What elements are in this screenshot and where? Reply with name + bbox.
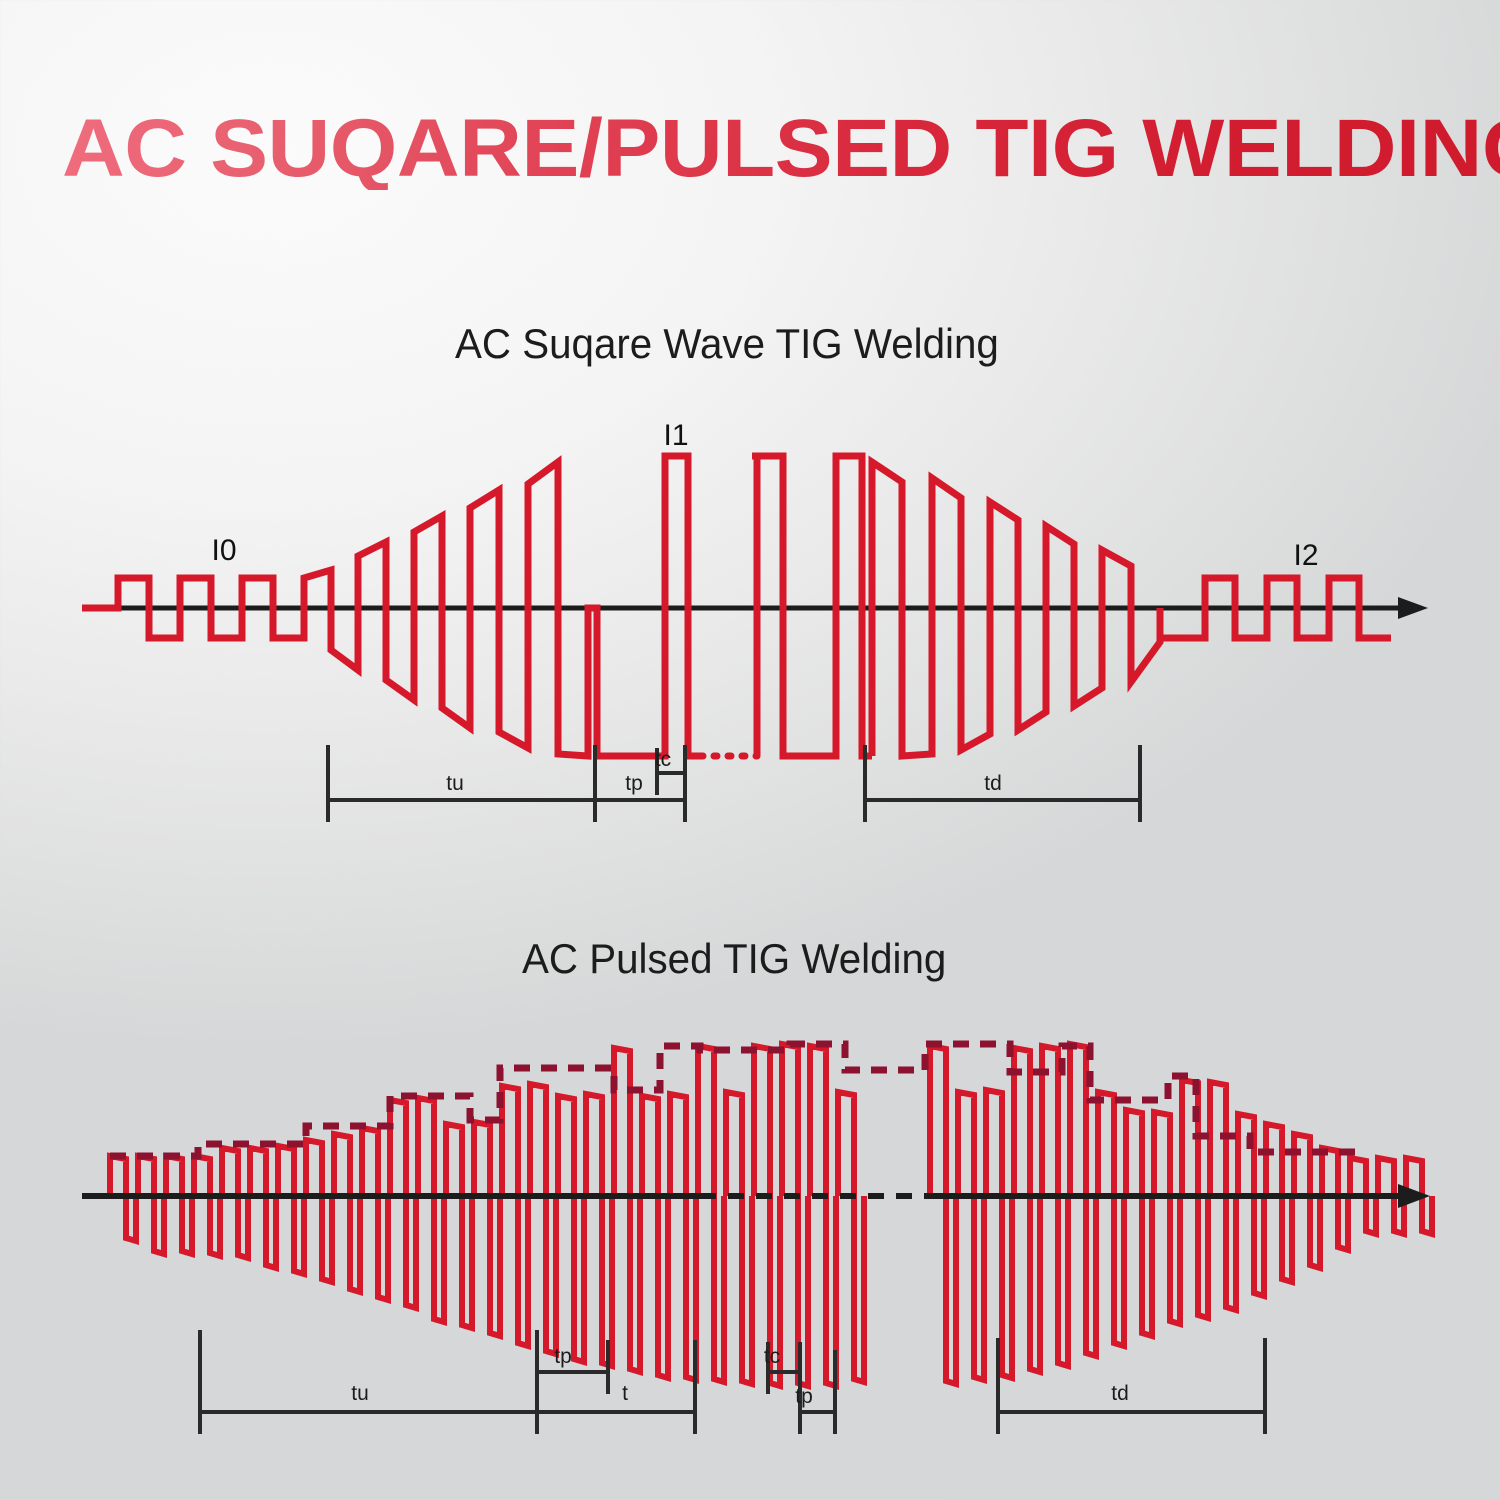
current-label-i0: I0 xyxy=(211,534,236,567)
dimension-label-t: t xyxy=(622,1382,628,1405)
pulsed-wave-chart: tutpttctptd xyxy=(0,1010,1500,1480)
current-label-i1: I1 xyxy=(663,419,688,452)
dimension-label-tc: tc xyxy=(655,748,671,771)
dimension-label-td: td xyxy=(1111,1382,1129,1405)
dimension-label-td: td xyxy=(984,772,1002,795)
pulsed-wave-right xyxy=(930,1044,1432,1384)
dimension-tc: tc xyxy=(655,748,685,795)
section-title-square: AC Suqare Wave TIG Welding xyxy=(455,320,999,368)
dimension-label-tp: tp xyxy=(795,1385,813,1408)
square-wave-svg: I0I1I2tutptctd xyxy=(0,400,1500,880)
dimension-tu: tu xyxy=(200,1330,537,1434)
dimension-label-tu: tu xyxy=(446,772,464,795)
pulsed-wave-left xyxy=(110,1044,864,1386)
axis-arrow-icon xyxy=(1398,1184,1430,1208)
square-wave-chart: I0I1I2tutptctd xyxy=(0,400,1500,880)
pulsed-wave-svg: tutpttctptd xyxy=(0,1010,1500,1480)
axis-arrow-icon xyxy=(1398,597,1428,619)
dimension-label-tp: tp xyxy=(625,772,643,795)
page-title: AC SUQARE/PULSED TIG WELDING xyxy=(62,108,1500,190)
square-wave-tail-lead xyxy=(1160,608,1205,638)
dimension-label-tc: tc xyxy=(764,1345,780,1368)
diagram-canvas: AC SUQARE/PULSED TIG WELDING AC Suqare W… xyxy=(0,0,1500,1500)
current-label-i2: I2 xyxy=(1293,539,1318,572)
section-title-pulsed: AC Pulsed TIG Welding xyxy=(522,935,946,983)
dimension-label-tp: tp xyxy=(554,1345,572,1368)
dimension-tp: tp xyxy=(795,1350,835,1434)
dimension-label-tu: tu xyxy=(351,1382,369,1405)
